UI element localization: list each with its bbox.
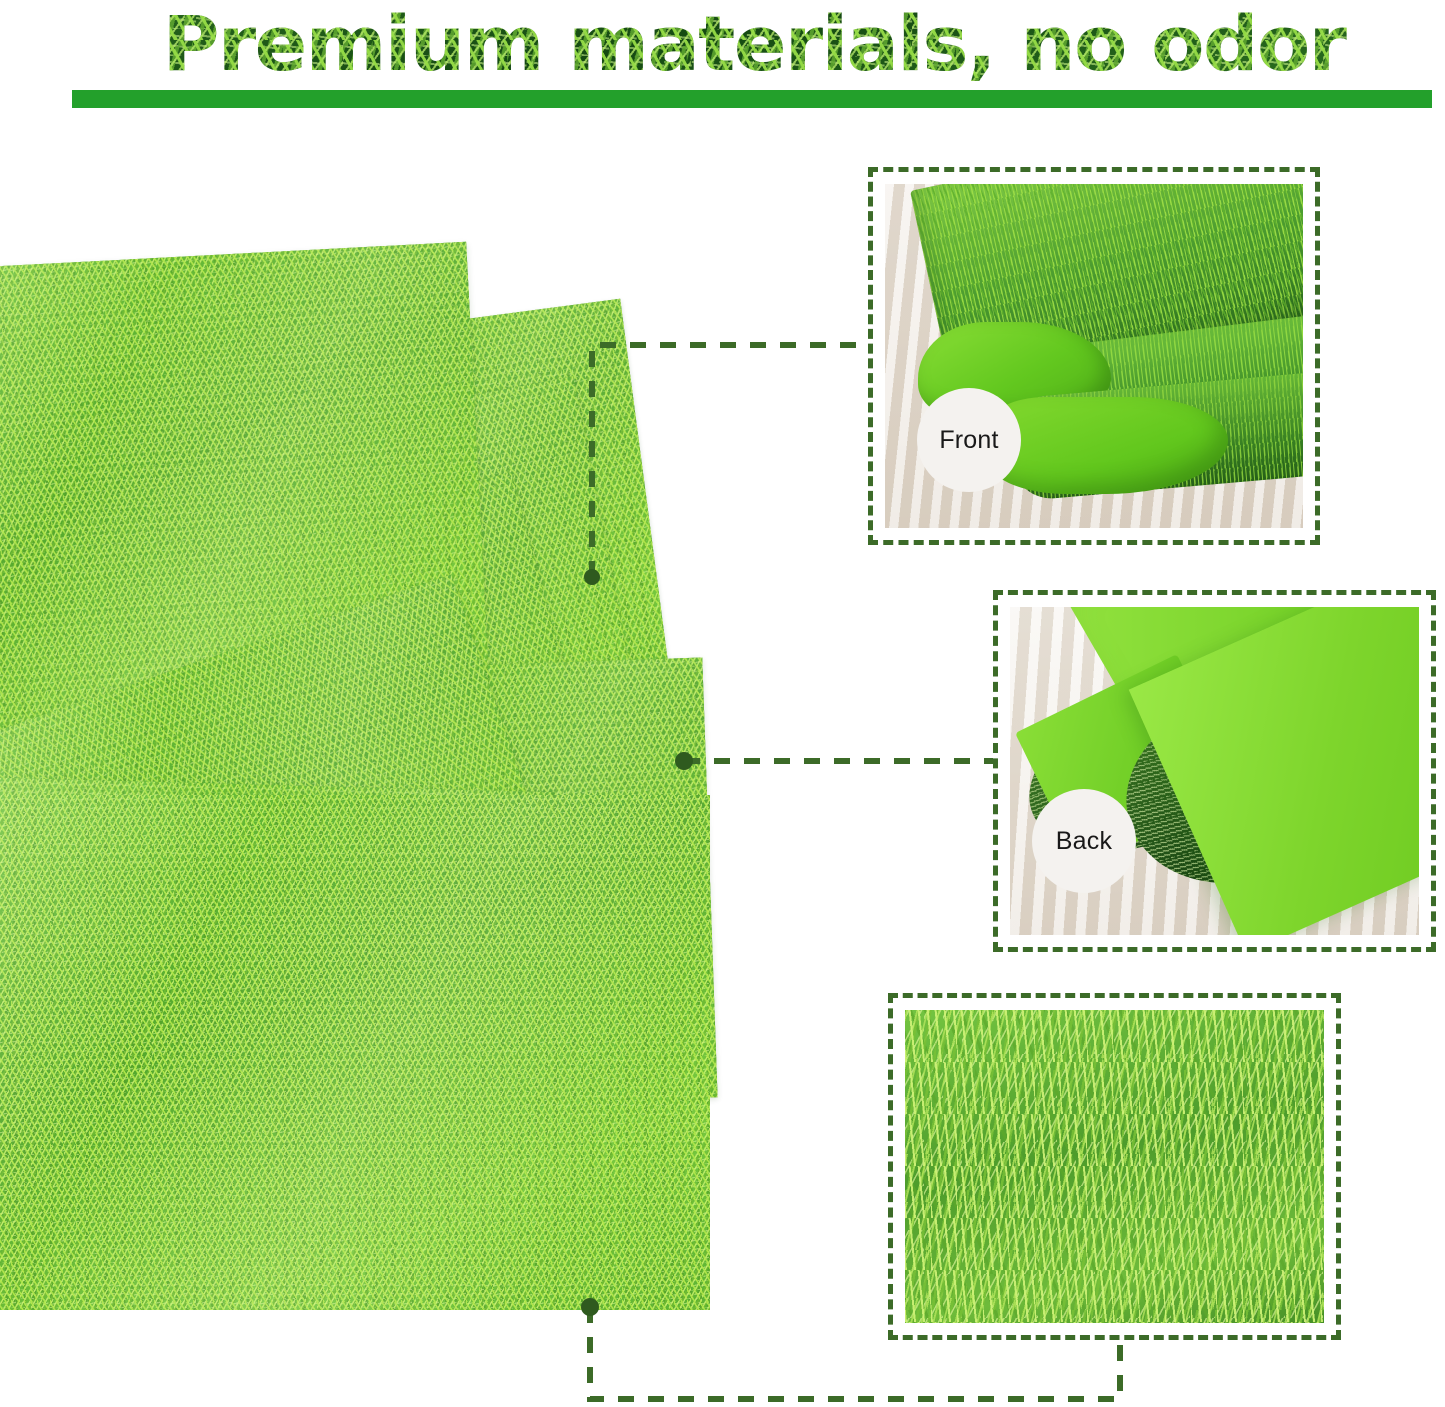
panel-back[interactable]: Back	[993, 590, 1436, 952]
front-photo: Front	[885, 184, 1303, 528]
status-badge: Back	[1032, 789, 1136, 893]
grass-closeup-photo	[905, 1010, 1324, 1323]
page-title: Premium materials, no odor	[58, 2, 1445, 86]
status-badge: Front	[917, 388, 1021, 492]
panel-front[interactable]: Front	[868, 167, 1320, 545]
mat-sheen	[0, 795, 710, 1310]
grass-mat-stack	[0, 225, 760, 1315]
panel-closeup[interactable]	[888, 993, 1341, 1340]
headline-underline-bar	[72, 90, 1432, 108]
infographic-canvas: Premium materials, no odor	[0, 0, 1445, 1407]
grass-mat-tile	[0, 795, 710, 1310]
back-photo: Back	[1010, 607, 1419, 935]
headline-block: Premium materials, no odor	[0, 0, 1445, 120]
